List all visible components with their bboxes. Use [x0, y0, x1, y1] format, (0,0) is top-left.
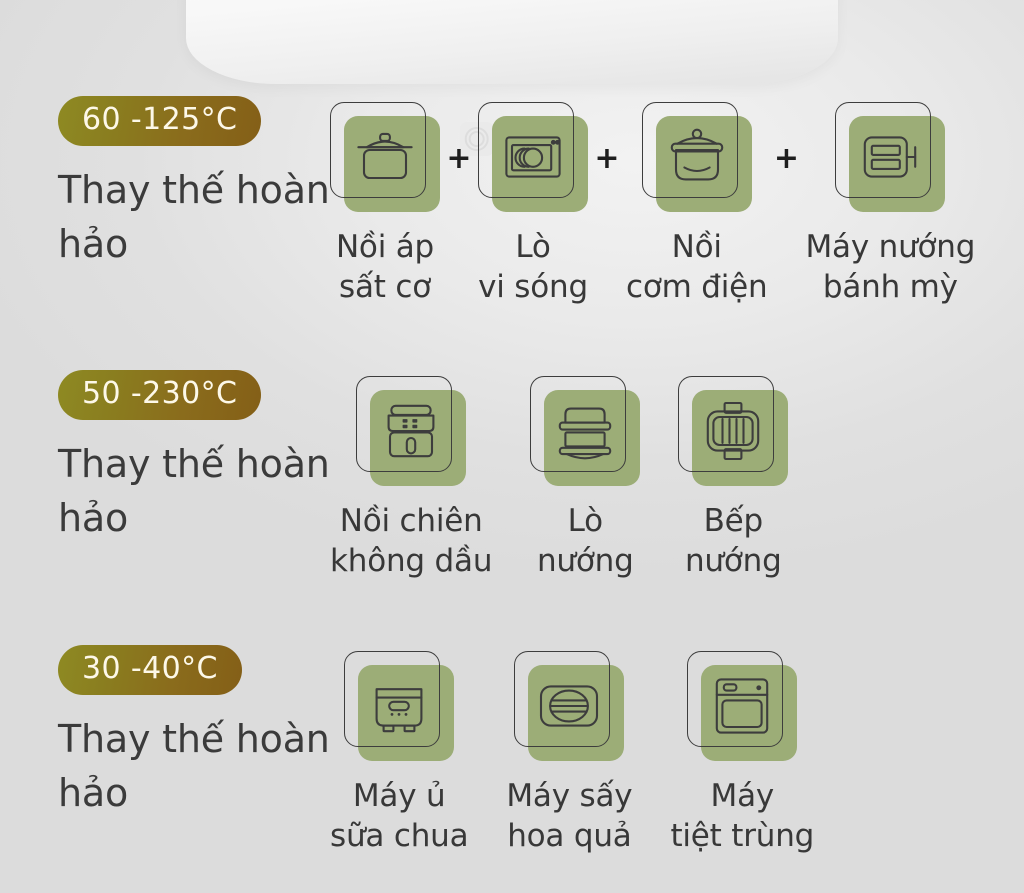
temperature-badge: 30 -40°C: [58, 645, 242, 695]
appliance-item-air-fryer[interactable]: Nồi chiên không dầu: [330, 376, 492, 581]
pressure-cooker-icon: [330, 102, 440, 212]
rice-cooker-icon: [642, 102, 752, 212]
item-label: Nồi áp sất cơ: [336, 228, 434, 307]
row-2-headline: Thay thế hoàn hảo: [58, 438, 330, 546]
item-label: Máy tiệt trùng: [670, 777, 814, 856]
section-row-3: 30 -40°C Thay thế hoàn hảo: [0, 645, 1024, 856]
row-3-headline: Thay thế hoàn hảo: [58, 713, 330, 821]
appliance-item-pressure-cooker[interactable]: Nồi áp sất cơ: [330, 102, 440, 307]
appliance-item-yogurt-maker[interactable]: Máy ủ sữa chua: [330, 651, 468, 856]
section-row-2: 50 -230°C Thay thế hoàn hảo: [0, 370, 1024, 581]
item-label: Lò nướng: [537, 502, 634, 581]
section-row-1: 60 -125°C Thay thế hoàn hảo: [0, 96, 1024, 307]
appliance-item-rice-cooker[interactable]: Nồi cơm điện: [626, 102, 767, 307]
item-label: Máy nướng bánh mỳ: [805, 228, 975, 307]
plus-separator: +: [440, 144, 478, 174]
plus-separator: +: [767, 144, 805, 174]
grill-oven-icon: [530, 376, 640, 486]
temperature-badge: 50 -230°C: [58, 370, 261, 420]
sterilizer-icon: [687, 651, 797, 761]
temperature-badge: 60 -125°C: [58, 96, 261, 146]
infographic-page: llAO 60 -125°C Thay thế hoàn hảo: [0, 0, 1024, 893]
row-3-items: Máy ủ sữa chua Máy sấy hoa quả: [330, 645, 1024, 856]
item-label: Lò vi sóng: [478, 228, 588, 307]
row-2-left: 50 -230°C Thay thế hoàn hảo: [0, 370, 330, 546]
row-3-left: 30 -40°C Thay thế hoàn hảo: [0, 645, 330, 821]
row-2-items: Nồi chiên không dầu: [330, 370, 1024, 581]
appliance-item-toaster[interactable]: Máy nướng bánh mỳ: [805, 102, 975, 307]
row-1-left: 60 -125°C Thay thế hoàn hảo: [0, 96, 330, 272]
plus-separator: +: [588, 144, 626, 174]
food-dryer-icon: [514, 651, 624, 761]
grill-plate-icon: [678, 376, 788, 486]
item-label: Máy sấy hoa quả: [506, 777, 632, 856]
toaster-icon: [835, 102, 945, 212]
microwave-icon: [478, 102, 588, 212]
row-1-items: Nồi áp sất cơ +: [330, 96, 1024, 307]
appliance-item-sterilizer[interactable]: Máy tiệt trùng: [670, 651, 814, 856]
appliance-item-food-dryer[interactable]: Máy sấy hoa quả: [506, 651, 632, 856]
appliance-item-grill-oven[interactable]: Lò nướng: [530, 376, 640, 581]
item-label: Bếp nướng: [685, 502, 782, 581]
air-fryer-icon: [356, 376, 466, 486]
row-1-headline: Thay thế hoàn hảo: [58, 164, 330, 272]
yogurt-maker-icon: [344, 651, 454, 761]
item-label: Máy ủ sữa chua: [330, 777, 468, 856]
item-label: Nồi cơm điện: [626, 228, 767, 307]
item-label: Nồi chiên không dầu: [330, 502, 492, 581]
appliance-illustration: [186, 0, 838, 84]
appliance-item-microwave[interactable]: Lò vi sóng: [478, 102, 588, 307]
appliance-item-grill-plate[interactable]: Bếp nướng: [678, 376, 788, 581]
